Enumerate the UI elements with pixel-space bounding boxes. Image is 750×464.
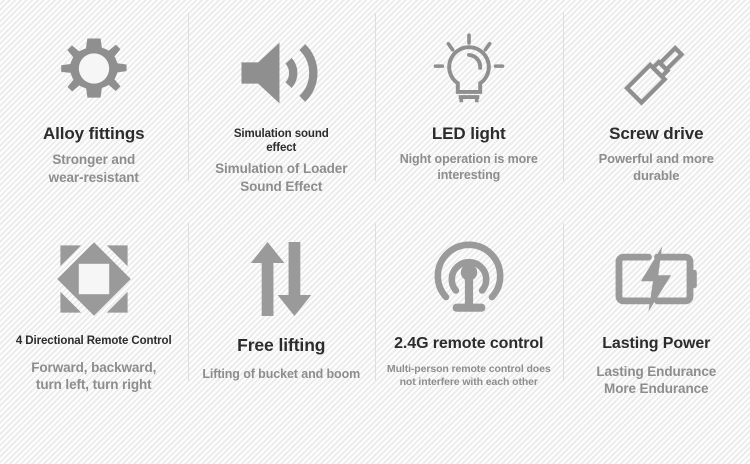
feature-description-line-1: Stronger and (49, 151, 139, 169)
feature-description-line-1: Lasting Endurance (596, 363, 716, 381)
feature-description-line-1: Forward, backward, (31, 359, 156, 377)
feature-description-line-2: turn left, turn right (31, 376, 156, 394)
feature-card-alloy-fittings[interactable]: Alloy fittings Stronger and wear-resista… (0, 0, 188, 219)
feature-description: Simulation of Loader Sound Effect (215, 160, 347, 195)
feature-title: LED light (432, 124, 506, 144)
feature-title: Alloy fittings (43, 124, 145, 144)
feature-title: 2.4G remote control (394, 335, 543, 354)
feature-description: Multi-person remote control does not int… (387, 363, 551, 389)
four-direction-icon (54, 233, 134, 325)
feature-description-line-1: Powerful and more (599, 151, 714, 168)
feature-description: Night operation is more interesting (400, 151, 538, 184)
screwdriver-icon (612, 30, 700, 116)
feature-description-line-2: Sound Effect (215, 178, 347, 196)
feature-card-24g-remote-control[interactable]: 2.4G remote control Multi-person remote … (375, 219, 563, 408)
feature-title: Simulation sound effect (234, 128, 329, 155)
gear-icon (53, 30, 135, 116)
feature-title-line-1: Simulation sound (234, 128, 329, 142)
bottom-spacer (0, 408, 750, 464)
feature-description-line-2: not interfere with each other (387, 376, 551, 389)
feature-description-line-1: Night operation is more (400, 151, 538, 167)
feature-description-line-2: wear-resistant (49, 169, 139, 187)
feature-description-line-1: Simulation of Loader (215, 160, 347, 178)
feature-grid: Alloy fittings Stronger and wear-resista… (0, 0, 750, 464)
feature-title-line-2: effect (234, 142, 329, 156)
feature-description-line-2: More Endurance (596, 380, 716, 398)
feature-card-led-light[interactable]: LED light Night operation is more intere… (375, 0, 563, 219)
feature-title: Lasting Power (602, 335, 710, 354)
feature-description: Lifting of bucket and boom (202, 366, 360, 382)
feature-description-line-1: Lifting of bucket and boom (202, 366, 360, 382)
feature-title: Free lifting (237, 335, 325, 356)
up-down-arrows-icon (246, 233, 316, 325)
feature-description-line-2: interesting (400, 167, 538, 183)
feature-row-bottom: 4 Directional Remote Control Forward, ba… (0, 219, 750, 408)
feature-title: 4 Directional Remote Control (16, 335, 172, 349)
feature-description-line-1: Multi-person remote control does (387, 363, 551, 376)
feature-description-line-2: durable (599, 168, 714, 185)
feature-card-lasting-power[interactable]: Lasting Power Lasting Endurance More End… (563, 219, 750, 408)
feature-description: Lasting Endurance More Endurance (596, 363, 716, 398)
battery-charging-icon (610, 233, 702, 325)
feature-title: Screw drive (609, 124, 703, 144)
lightbulb-icon (426, 30, 512, 116)
feature-card-4-directional-remote-control[interactable]: 4 Directional Remote Control Forward, ba… (0, 219, 188, 408)
feature-description: Powerful and more durable (599, 151, 714, 185)
feature-card-simulation-sound-effect[interactable]: Simulation sound effect Simulation of Lo… (188, 0, 376, 219)
feature-description: Stronger and wear-resistant (49, 151, 139, 186)
feature-row-top: Alloy fittings Stronger and wear-resista… (0, 0, 750, 219)
antenna-signal-icon (428, 233, 510, 325)
feature-card-screw-drive[interactable]: Screw drive Powerful and more durable (563, 0, 750, 219)
speaker-sound-icon (235, 30, 327, 116)
feature-card-free-lifting[interactable]: Free lifting Lifting of bucket and boom (188, 219, 376, 408)
feature-description: Forward, backward, turn left, turn right (31, 359, 156, 394)
